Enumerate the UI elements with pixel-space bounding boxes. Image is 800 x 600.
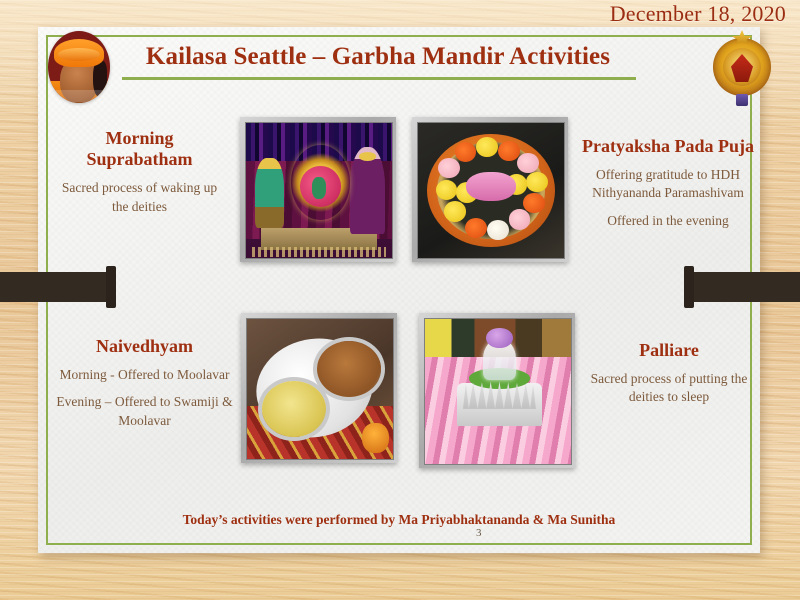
photo-frame-inner bbox=[246, 318, 394, 460]
flower-bud bbox=[486, 328, 512, 348]
activity-block-pratyaksha: Pratyaksha Pada Puja Offering gratitude … bbox=[578, 136, 758, 230]
activity-block-morning: Morning Suprabatham Sacred process of wa… bbox=[52, 128, 227, 216]
slide-card bbox=[38, 27, 760, 553]
page-number: 3 bbox=[476, 527, 482, 539]
photo-deities-on-altar bbox=[240, 117, 396, 262]
left-bar-knob bbox=[106, 266, 116, 308]
oil-lamp bbox=[362, 423, 388, 454]
activity-heading: Palliare bbox=[580, 340, 758, 361]
bowl-rice bbox=[262, 381, 326, 437]
photo-paduka-flower-tray bbox=[412, 117, 568, 262]
avatar-caption-strip bbox=[48, 90, 110, 102]
activity-line: Offering gratitude to HDH Nithyananda Pa… bbox=[578, 166, 758, 202]
avatar-turban bbox=[54, 39, 104, 67]
central-deity bbox=[312, 177, 327, 199]
left-dark-bar bbox=[0, 272, 112, 302]
title-underline bbox=[122, 77, 636, 80]
activity-heading: Morning Suprabatham bbox=[52, 128, 227, 170]
deity-emblem-icon bbox=[711, 28, 773, 106]
photo-food-offering bbox=[241, 313, 397, 463]
activity-line: Morning - Offered to Moolavar bbox=[52, 366, 237, 384]
activity-heading: Pratyaksha Pada Puja bbox=[578, 136, 758, 157]
photo-scene bbox=[247, 319, 393, 459]
activity-line: Evening – Offered to Swamiji & Moolavar bbox=[52, 393, 237, 429]
flower bbox=[526, 172, 548, 192]
photo-watermark bbox=[252, 247, 386, 256]
flower bbox=[465, 218, 487, 238]
deity-left bbox=[255, 158, 284, 228]
photo-frame-inner bbox=[245, 122, 393, 259]
emblem-base bbox=[736, 94, 748, 106]
photo-scene bbox=[246, 123, 392, 258]
flower bbox=[498, 141, 520, 161]
flower bbox=[517, 153, 539, 173]
paduka bbox=[466, 172, 516, 202]
photo-frame-inner bbox=[417, 122, 565, 259]
activity-block-naivedhyam: Naivedhyam Morning - Offered to Moolavar… bbox=[52, 336, 237, 430]
activity-heading: Naivedhyam bbox=[52, 336, 237, 357]
page-title: Kailasa Seattle – Garbha Mandir Activiti… bbox=[118, 43, 638, 71]
photo-frame-inner bbox=[424, 318, 572, 465]
photo-scene bbox=[425, 319, 571, 464]
photo-scene bbox=[418, 123, 564, 258]
slide-canvas: December 18, 2020 Kailasa Seattle – Garb… bbox=[0, 0, 800, 600]
deity-right bbox=[350, 147, 385, 233]
flower bbox=[487, 220, 509, 240]
slide-green-border bbox=[46, 35, 752, 545]
slide-date: December 18, 2020 bbox=[610, 1, 786, 27]
activity-block-palliare: Palliare Sacred process of putting the d… bbox=[580, 340, 758, 407]
photo-crystal-lingam bbox=[419, 313, 575, 468]
activity-line: Sacred process of putting the deities to… bbox=[580, 370, 758, 406]
flower bbox=[444, 201, 466, 221]
footer-credit: Today’s activities were performed by Ma … bbox=[38, 512, 760, 528]
flower bbox=[436, 180, 458, 200]
right-bar-knob bbox=[684, 266, 694, 308]
right-dark-bar bbox=[688, 272, 800, 302]
activity-line: Offered in the evening bbox=[578, 212, 758, 230]
activity-line: Sacred process of waking up the deities bbox=[52, 179, 227, 215]
swamiji-portrait-icon bbox=[48, 31, 110, 103]
flower bbox=[509, 209, 531, 229]
flower bbox=[476, 137, 498, 157]
